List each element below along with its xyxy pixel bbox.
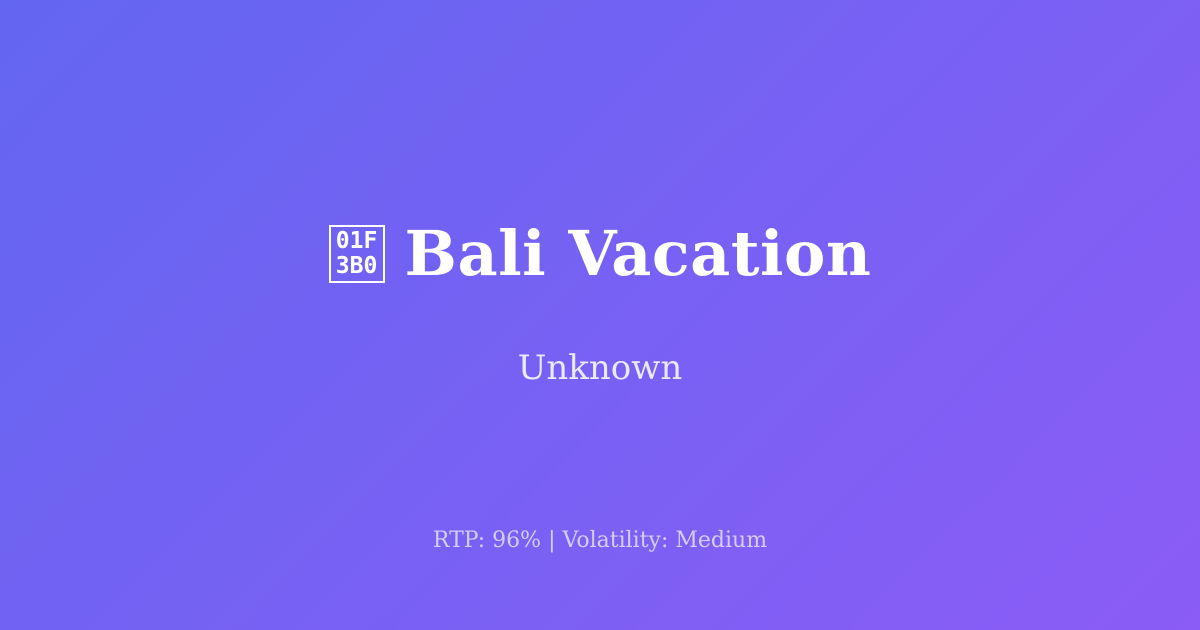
slot-machine-icon: 01F 3B0 [329,225,385,283]
page-subtitle: Unknown [518,351,683,385]
title-row: 01F 3B0 Bali Vacation [329,223,872,285]
page-title: Bali Vacation [405,223,872,285]
tofu-codepoint-lower: 3B0 [336,254,378,279]
game-stats-line: RTP: 96% | Volatility: Medium [0,530,1200,552]
tofu-codepoint-upper: 01F [336,229,378,254]
